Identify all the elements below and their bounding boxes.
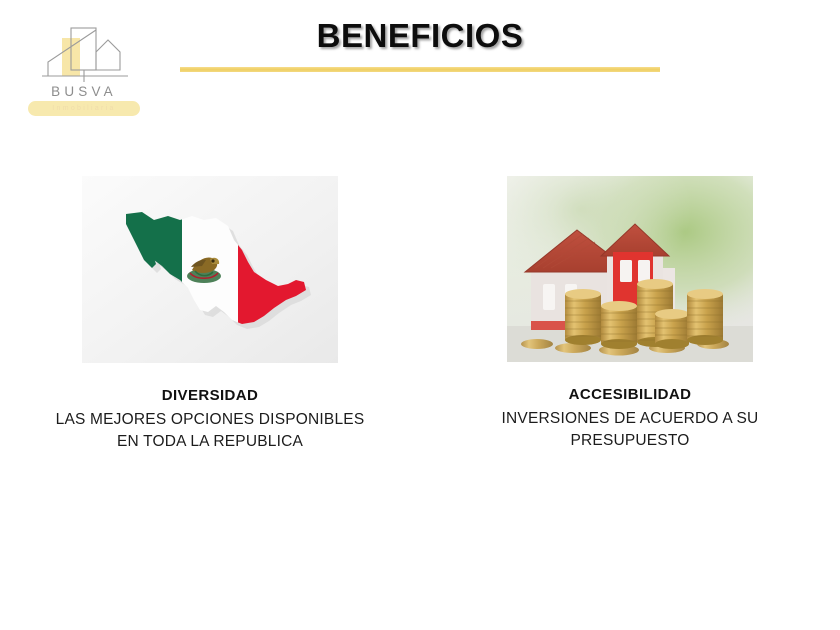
house-and-coins-photo	[507, 176, 753, 362]
benefit-caption-diversidad: DIVERSIDAD LAS MEJORES OPCIONES DISPONIB…	[10, 385, 410, 454]
benefit-card-accesibilidad: ACCESIBILIDAD INVERSIONES DE ACUERDO A S…	[420, 176, 840, 454]
benefit-description: INVERSIONES DE ACUERDO A SU PRESUPUESTO	[465, 408, 795, 453]
benefit-caption-accesibilidad: ACCESIBILIDAD INVERSIONES DE ACUERDO A S…	[465, 384, 795, 453]
title-underline-rule	[180, 67, 660, 72]
mexico-flag-map-photo	[82, 176, 338, 363]
logo-tagline: Inmobiliaria	[28, 102, 140, 115]
benefit-title: ACCESIBILIDAD	[465, 384, 795, 406]
page-title: BENEFICIOS	[180, 17, 660, 55]
benefit-title: DIVERSIDAD	[10, 385, 410, 407]
benefits-row: DIVERSIDAD LAS MEJORES OPCIONES DISPONIB…	[0, 176, 840, 454]
building-outline-icon	[24, 22, 144, 88]
logo-wordmark: BUSVA	[24, 84, 144, 99]
brand-logo: BUSVA Inmobiliaria	[24, 22, 144, 120]
benefit-description: LAS MEJORES OPCIONES DISPONIBLES EN TODA…	[10, 409, 410, 454]
benefit-card-diversidad: DIVERSIDAD LAS MEJORES OPCIONES DISPONIB…	[0, 176, 420, 454]
